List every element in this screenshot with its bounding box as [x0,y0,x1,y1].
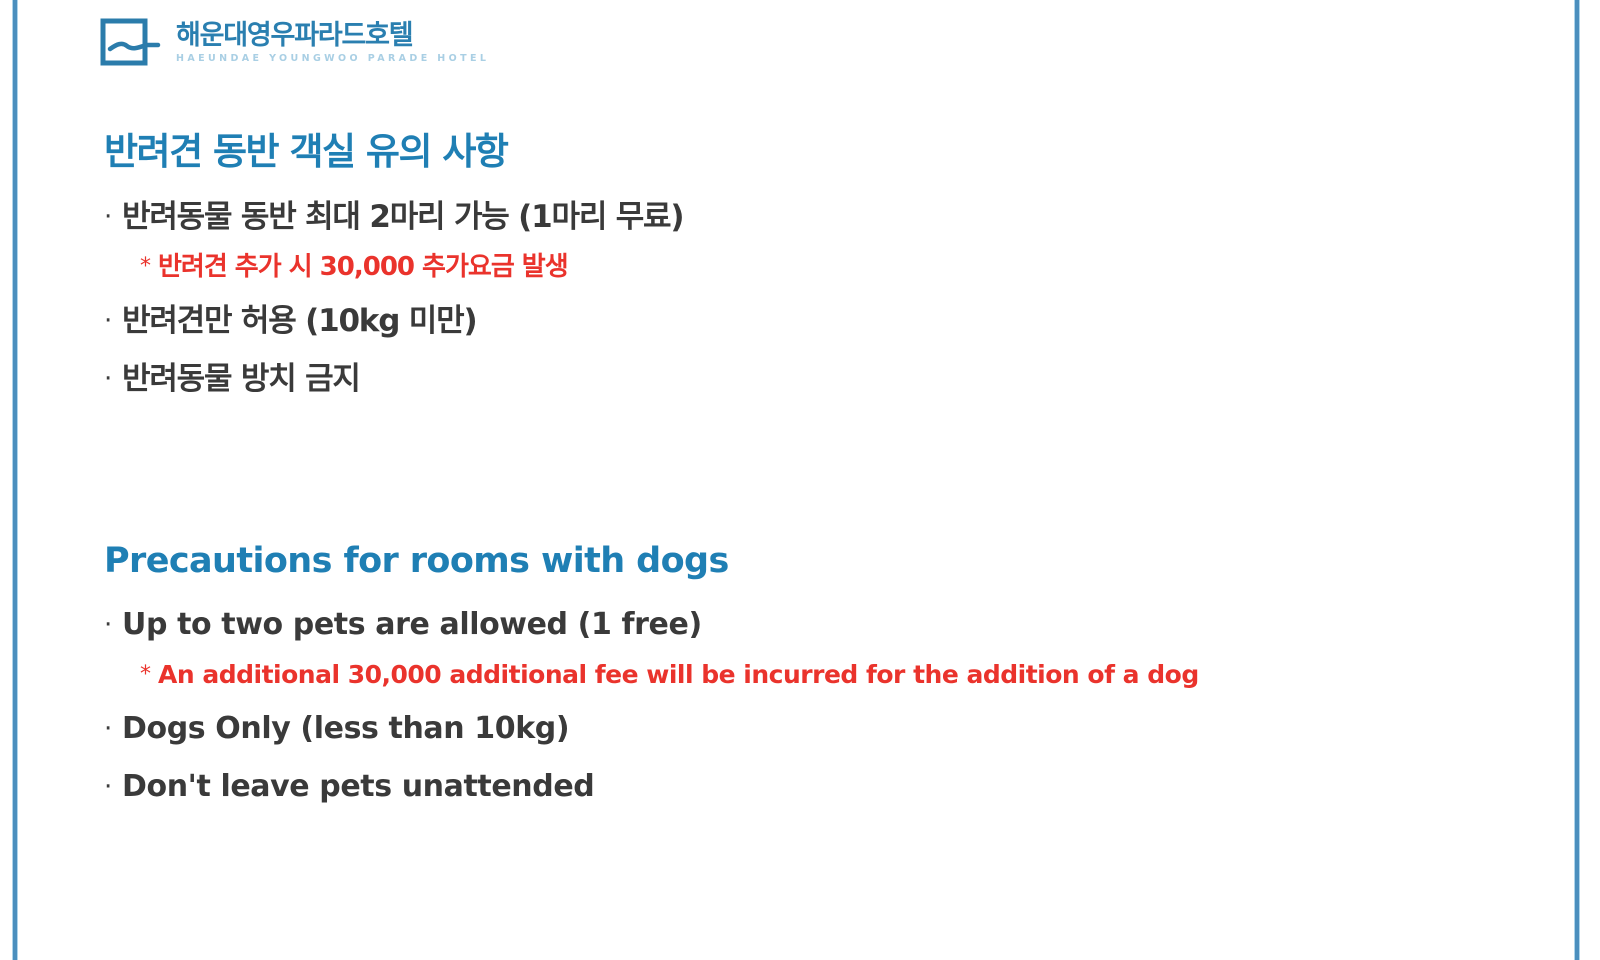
page-content: 해운대영우파라드호텔 HAEUNDAE YOUNGWOO PARADE HOTE… [100,0,1540,960]
list-item: · 반려동물 방치 금지 [100,362,1500,396]
section-heading-english: Precautions for rooms with dogs [104,540,1500,582]
list-item-label: Don't leave pets unattended [122,770,594,804]
bullet-marker-icon: · [100,362,122,396]
list-item-label: 반려동물 방치 금지 [122,362,360,396]
bullet-marker-icon: · [100,304,122,338]
hotel-logo: 해운대영우파라드호텔 HAEUNDAE YOUNGWOO PARADE HOTE… [100,18,489,66]
note-item: * An additional 30,000 additional fee wi… [140,660,1500,690]
list-item: · 반려견만 허용 (10kg 미만) [100,304,1500,338]
list-item-label: 반려동물 동반 최대 2마리 가능 (1마리 무료) [122,200,683,234]
logo-name-english: HAEUNDAE YOUNGWOO PARADE HOTEL [176,53,489,64]
notice-page: 해운대영우파라드호텔 HAEUNDAE YOUNGWOO PARADE HOTE… [0,0,1600,960]
logo-name-korean: 해운대영우파라드호텔 [176,22,489,50]
list-item: · Don't leave pets unattended [100,770,1500,804]
note-label: 반려견 추가 시 30,000 추가요금 발생 [158,252,568,282]
window-horizon-icon [100,18,162,66]
left-border-rail [13,0,17,960]
bullet-marker-icon: · [100,770,122,804]
bullet-marker-icon: · [100,712,122,746]
list-item-label: Up to two pets are allowed (1 free) [122,608,702,642]
bullet-marker-icon: · [100,200,122,234]
right-border-rail [1575,0,1579,960]
list-item-label: 반려견만 허용 (10kg 미만) [122,304,476,338]
list-item: · Dogs Only (less than 10kg) [100,712,1500,746]
note-label: An additional 30,000 additional fee will… [158,660,1199,690]
list-item-label: Dogs Only (less than 10kg) [122,712,569,746]
bullet-marker-icon: · [100,608,122,642]
asterisk-icon: * [140,660,158,690]
bullet-list-english: · Up to two pets are allowed (1 free) * … [100,608,1500,804]
list-item: · 반려동물 동반 최대 2마리 가능 (1마리 무료) [100,200,1500,234]
section-korean: 반려견 동반 객실 유의 사항 · 반려동물 동반 최대 2마리 가능 (1마리… [100,130,1500,420]
section-english: Precautions for rooms with dogs · Up to … [100,540,1500,828]
asterisk-icon: * [140,252,158,282]
note-item: * 반려견 추가 시 30,000 추가요금 발생 [140,252,1500,282]
logo-wordmark: 해운대영우파라드호텔 HAEUNDAE YOUNGWOO PARADE HOTE… [176,20,489,65]
list-item: · Up to two pets are allowed (1 free) [100,608,1500,642]
bullet-list-korean: · 반려동물 동반 최대 2마리 가능 (1마리 무료) * 반려견 추가 시 … [100,200,1500,396]
section-heading-korean: 반려견 동반 객실 유의 사항 [104,130,1500,174]
